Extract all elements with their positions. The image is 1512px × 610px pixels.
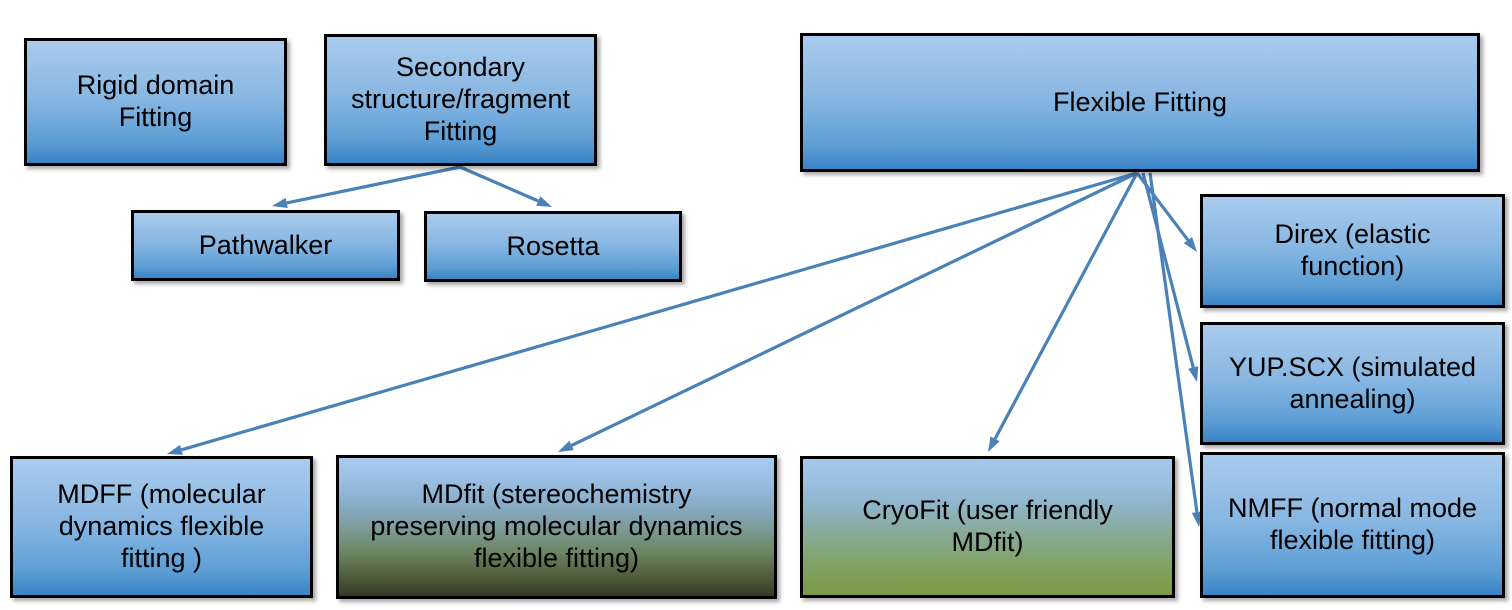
- node-mdfit[interactable]: MDfit (stereochemistry preserving molecu…: [336, 455, 777, 599]
- node-rigid-domain-fitting[interactable]: Rigid domain Fitting: [24, 38, 287, 166]
- node-label-direx: Direx (elastic function): [1211, 219, 1494, 283]
- edge-flexible-to-yupscx: [1143, 173, 1198, 382]
- node-label-rosetta: Rosetta: [435, 231, 671, 263]
- node-label-mdfit: MDfit (stereochemistry preserving molecu…: [347, 479, 766, 575]
- node-mdff[interactable]: MDFF (molecular dynamics flexible fittin…: [10, 456, 313, 598]
- node-label-secondary-structure-fragment-fitting: Secondary structure/fragment Fitting: [335, 52, 586, 148]
- node-label-mdff: MDFF (molecular dynamics flexible fittin…: [21, 479, 302, 575]
- node-pathwalker[interactable]: Pathwalker: [131, 210, 400, 281]
- edge-secondary-to-pathwalker: [272, 167, 460, 208]
- node-direx[interactable]: Direx (elastic function): [1200, 194, 1505, 308]
- edge-flexible-to-cryofit: [988, 173, 1137, 452]
- edge-flexible-to-direx: [1137, 173, 1197, 252]
- node-label-flexible-fitting: Flexible Fitting: [811, 87, 1469, 119]
- node-secondary-structure-fragment-fitting[interactable]: Secondary structure/fragment Fitting: [324, 34, 597, 166]
- node-cryofit[interactable]: CryoFit (user friendly MDfit): [800, 456, 1175, 598]
- node-nmff[interactable]: NMFF (normal mode flexible fitting): [1200, 452, 1505, 598]
- node-label-nmff: NMFF (normal mode flexible fitting): [1211, 493, 1494, 557]
- node-label-pathwalker: Pathwalker: [142, 230, 389, 262]
- node-label-cryofit: CryoFit (user friendly MDfit): [811, 495, 1164, 559]
- edge-secondary-to-rosetta: [460, 167, 552, 207]
- node-label-rigid-domain-fitting: Rigid domain Fitting: [35, 70, 276, 134]
- node-label-yup-scx: YUP.SCX (simulated annealing): [1211, 352, 1494, 416]
- node-yup-scx[interactable]: YUP.SCX (simulated annealing): [1200, 322, 1505, 445]
- node-rosetta[interactable]: Rosetta: [424, 211, 682, 282]
- node-flexible-fitting[interactable]: Flexible Fitting: [800, 33, 1480, 172]
- diagram-canvas: Rigid domain FittingSecondary structure/…: [0, 0, 1512, 610]
